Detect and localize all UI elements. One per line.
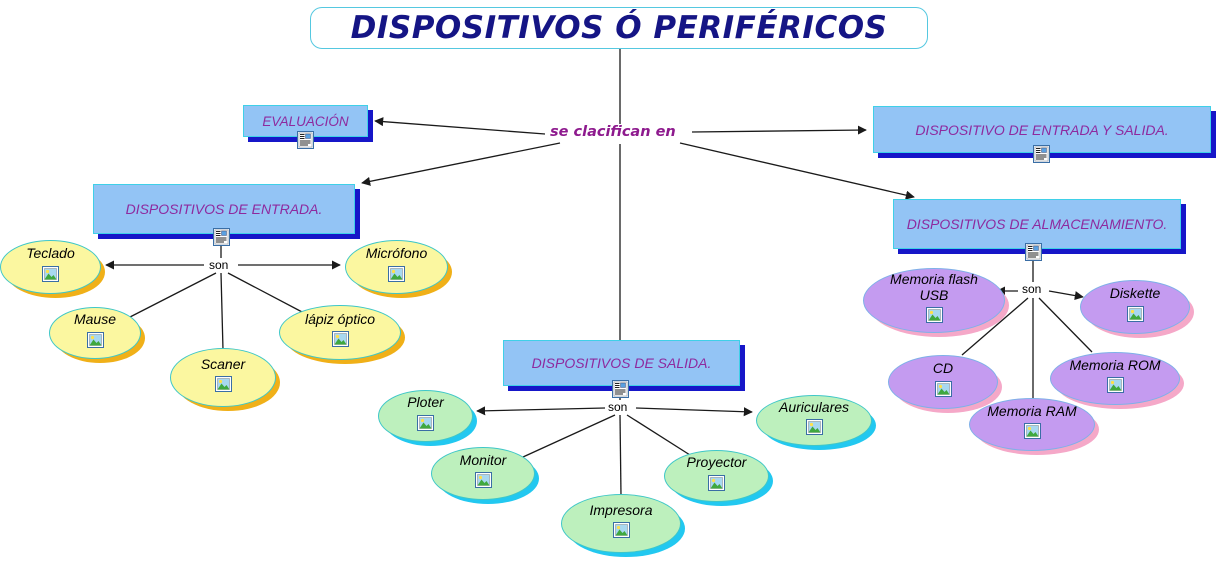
concept-node-label: Memoria RAM [981,404,1082,420]
concept-node-diskette[interactable]: Diskette [1080,280,1190,334]
concept-node-label: Memoria flash USB [884,272,984,303]
concept-node-label: Micrófono [360,246,433,262]
concept-box-label: DISPOSITIVO DE ENTRADA Y SALIDA. [907,122,1176,138]
concept-node-label: Monitor [454,453,513,469]
document-icon[interactable] [1025,243,1042,261]
image-icon[interactable] [1127,306,1144,322]
concept-node-label: CD [927,361,959,377]
concept-box-label: DISPOSITIVOS DE SALIDA. [524,355,720,371]
concept-node-scaner[interactable]: Scaner [170,348,276,407]
concept-node-label: Scaner [195,357,251,373]
link-phrase-entrada: son [207,258,230,272]
document-icon[interactable] [612,380,629,398]
concept-node-label: Teclado [20,246,81,262]
concept-node-label: Impresora [583,503,658,519]
concept-node-impresora[interactable]: Impresora [561,494,681,553]
concept-node-teclado[interactable]: Teclado [0,240,101,294]
concept-map-canvas: DISPOSITIVOS Ó PERIFÉRICOS se clacifican… [0,0,1220,569]
concept-node-label: Memoria ROM [1063,358,1166,374]
concept-node-auriculares[interactable]: Auriculares [756,395,872,446]
edge-almacenamiento-to-diskette [1049,291,1083,297]
concept-node-label: Mause [68,312,122,328]
document-icon[interactable] [297,131,314,149]
image-icon[interactable] [708,475,725,491]
concept-node-memoria-flash-usb[interactable]: Memoria flash USB [863,268,1005,333]
link-phrase-root: se clacifican en [545,124,681,140]
document-icon[interactable] [1033,145,1050,163]
image-icon[interactable] [1024,423,1041,439]
concept-box-entrada[interactable]: DISPOSITIVOS DE ENTRADA. [93,184,355,234]
edge-entrada-to-mause [130,273,216,317]
edge-salida-to-proyector [627,415,690,455]
edge-salida-to-monitor [523,415,615,457]
image-icon[interactable] [806,419,823,435]
concept-box-label: DISPOSITIVOS DE ALMACENAMIENTO. [899,216,1176,232]
concept-node-cd[interactable]: CD [888,355,998,409]
image-icon[interactable] [417,415,434,431]
image-icon[interactable] [935,381,952,397]
concept-node-label: Auriculares [773,400,855,416]
edge-root-to-entrada-salida [692,130,866,132]
concept-node-microfono[interactable]: Micrófono [345,240,448,294]
concept-box-label: EVALUACIÓN [254,114,356,129]
page-title: DISPOSITIVOS Ó PERIFÉRICOS [351,10,888,46]
image-icon[interactable] [1107,377,1124,393]
edge-entrada-to-scaner [221,273,223,350]
concept-node-monitor[interactable]: Monitor [431,447,535,500]
image-icon[interactable] [388,266,405,282]
concept-node-memoria-rom[interactable]: Memoria ROM [1050,352,1180,405]
edge-entrada-to-lapiz [228,273,304,313]
image-icon[interactable] [926,307,943,323]
concept-node-mause[interactable]: Mause [49,307,141,359]
image-icon[interactable] [87,332,104,348]
concept-node-label: Ploter [401,395,450,411]
image-icon[interactable] [215,376,232,392]
concept-node-ploter[interactable]: Ploter [378,390,473,442]
concept-node-label: lápiz óptico [299,312,381,328]
edge-root-to-entrada [362,143,560,183]
edge-salida-to-ploter [477,408,605,411]
concept-box-almacenamiento[interactable]: DISPOSITIVOS DE ALMACENAMIENTO. [893,199,1181,249]
image-icon[interactable] [613,522,630,538]
edge-salida-to-impresora [620,415,621,496]
link-phrase-almacenamiento: son [1020,282,1043,296]
concept-node-label: Diskette [1104,286,1167,302]
image-icon[interactable] [332,331,349,347]
edge-root-to-evaluacion [375,121,545,134]
concept-node-proyector[interactable]: Proyector [664,450,769,502]
image-icon[interactable] [475,472,492,488]
map-title-box: DISPOSITIVOS Ó PERIFÉRICOS [310,7,928,49]
concept-node-label: Proyector [681,455,753,471]
edge-salida-to-auriculares [636,408,752,412]
concept-node-memoria-ram[interactable]: Memoria RAM [969,398,1095,451]
image-icon[interactable] [42,266,59,282]
concept-node-lapiz-optico[interactable]: lápiz óptico [279,305,401,360]
link-phrase-salida: son [606,400,629,414]
document-icon[interactable] [213,228,230,246]
concept-box-label: DISPOSITIVOS DE ENTRADA. [118,201,331,217]
